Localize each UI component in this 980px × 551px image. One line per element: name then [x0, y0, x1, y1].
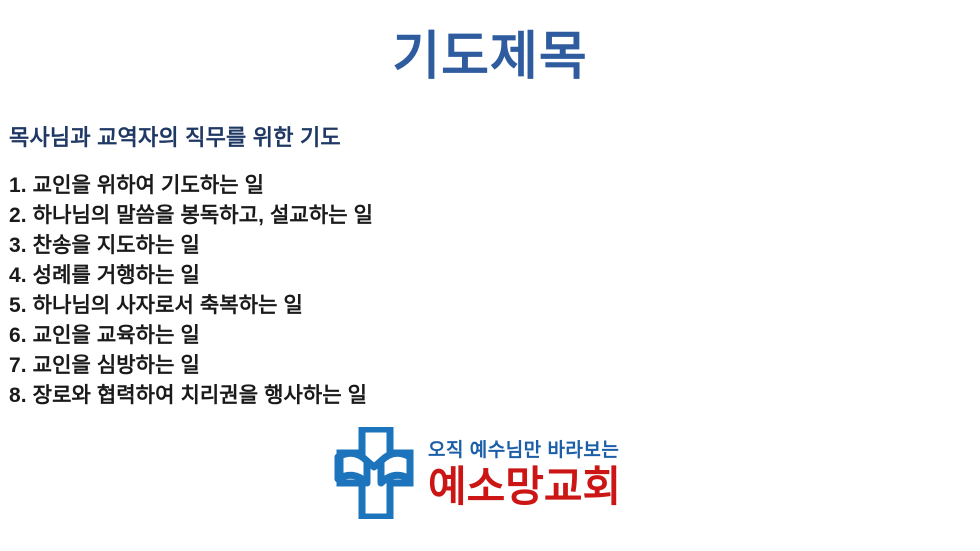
list-item: 1. 교인을 위하여 기도하는 일: [9, 171, 373, 201]
list-item: 8. 장로와 협력하여 치리권을 행사하는 일: [9, 381, 373, 411]
list-item: 2. 하나님의 말씀을 봉독하고, 설교하는 일: [9, 201, 373, 231]
list-item: 5. 하나님의 사자로서 축복하는 일: [9, 291, 373, 321]
list-item: 3. 찬송을 지도하는 일: [9, 231, 373, 261]
logo-text-block: 오직 예수님만 바라보는 예소망교회: [428, 437, 621, 509]
logo-church-name: 예소망교회: [428, 465, 621, 509]
presentation-slide: 기도제목 목사님과 교역자의 직무를 위한 기도 1. 교인을 위하여 기도하는…: [0, 0, 980, 551]
list-item: 4. 성례를 거행하는 일: [9, 261, 373, 291]
page-title: 기도제목: [0, 28, 980, 88]
prayer-topic-list: 1. 교인을 위하여 기도하는 일 2. 하나님의 말씀을 봉독하고, 설교하는…: [9, 171, 373, 411]
slide-subtitle: 목사님과 교역자의 직무를 위한 기도: [9, 120, 341, 152]
church-logo: 오직 예수님만 바라보는 예소망교회: [334, 427, 621, 519]
list-item: 7. 교인을 심방하는 일: [9, 351, 373, 381]
logo-tagline: 오직 예수님만 바라보는: [428, 441, 621, 460]
cross-with-open-book-icon: [334, 427, 414, 519]
list-item: 6. 교인을 교육하는 일: [9, 321, 373, 351]
